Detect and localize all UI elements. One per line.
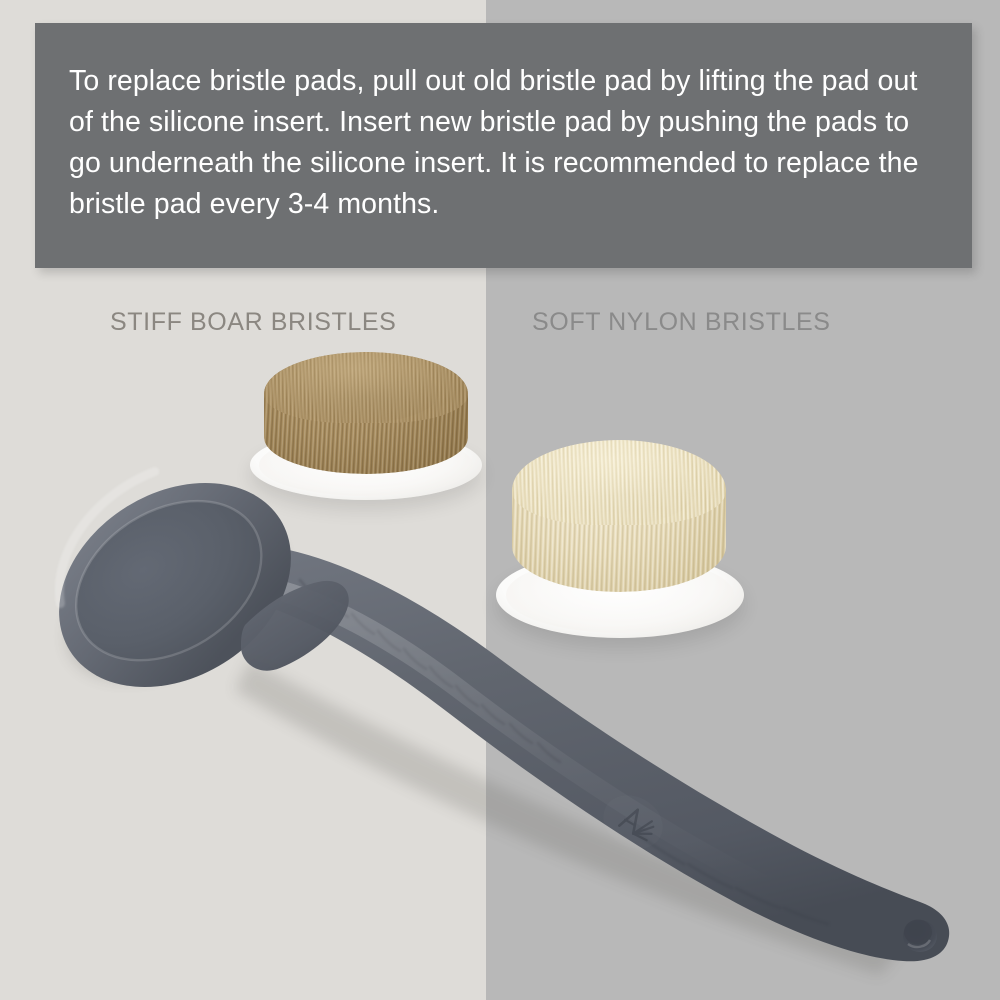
instruction-banner: To replace bristle pads, pull out old br… [35,23,972,268]
boar-bristle-cluster [264,352,468,474]
nylon-bristle-pad [496,440,744,638]
product-instruction-image: To replace bristle pads, pull out old br… [0,0,1000,1000]
nylon-bristle-tips [512,440,726,525]
nylon-bristle-cluster [512,440,726,592]
instruction-text: To replace bristle pads, pull out old br… [69,61,938,225]
boar-bristle-pad [250,352,482,497]
label-soft-nylon-bristles: SOFT NYLON BRISTLES [532,308,831,337]
label-stiff-boar-bristles: STIFF BOAR BRISTLES [110,308,396,337]
